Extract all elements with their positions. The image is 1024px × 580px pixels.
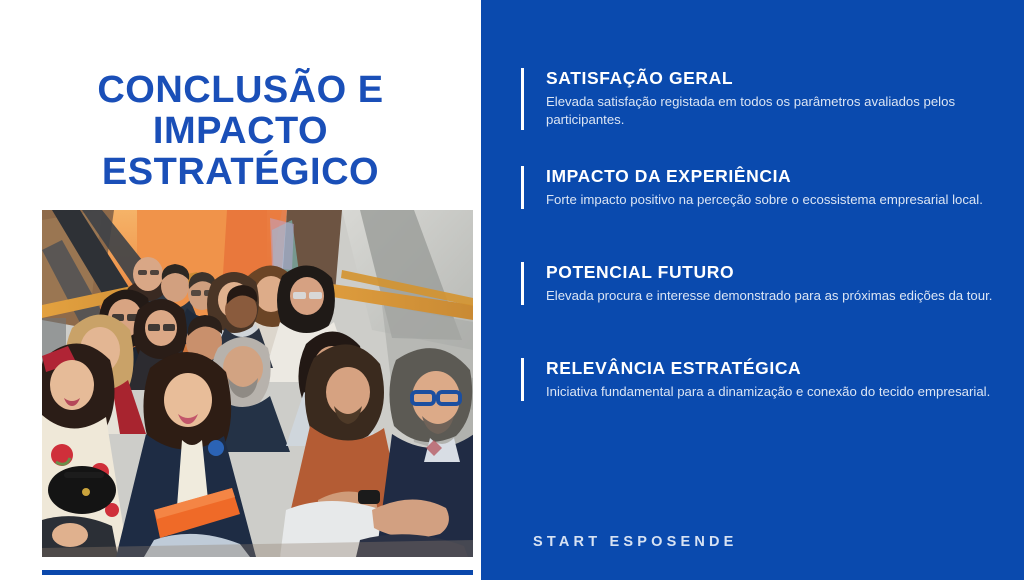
section-heading: RELEVÂNCIA ESTRATÉGICA [546,358,1008,378]
footer-brand: START ESPOSENDE [533,534,738,550]
title-line-1: CONCLUSÃO E [20,70,461,111]
section-item-satisfacao-geral: SATISFAÇÃO GERAL Elevada satisfação regi… [521,68,1008,130]
section-item-potencial-futuro: POTENCIAL FUTURO Elevada procura e inter… [521,262,1008,305]
section-body: Elevada procura e interesse demonstrado … [546,287,1008,305]
section-accent-bar [521,166,524,209]
slide-root: CONCLUSÃO E IMPACTO ESTRATÉGICO [0,0,1024,580]
section-body: Forte impacto positivo na perceção sobre… [546,191,1008,209]
section-item-impacto-da-experiencia: IMPACTO DA EXPERIÊNCIA Forte impacto pos… [521,166,1008,209]
section-accent-bar [521,68,524,130]
group-photo [42,210,473,557]
section-body: Elevada satisfação registada em todos os… [546,93,1008,129]
right-panel: SATISFAÇÃO GERAL Elevada satisfação regi… [481,0,1024,580]
bottom-accent-bar [42,570,473,575]
page-title: CONCLUSÃO E IMPACTO ESTRATÉGICO [20,70,461,193]
section-accent-bar [521,358,524,401]
left-region: CONCLUSÃO E IMPACTO ESTRATÉGICO [0,0,481,580]
title-line-2: IMPACTO [20,111,461,152]
section-heading: SATISFAÇÃO GERAL [546,68,1008,88]
section-heading: IMPACTO DA EXPERIÊNCIA [546,166,1008,186]
section-accent-bar [521,262,524,305]
section-item-relevancia-estrategica: RELEVÂNCIA ESTRATÉGICA Iniciativa fundam… [521,358,1008,401]
section-heading: POTENCIAL FUTURO [546,262,1008,282]
title-line-3: ESTRATÉGICO [20,152,461,193]
section-body: Iniciativa fundamental para a dinamizaçã… [546,383,1008,401]
